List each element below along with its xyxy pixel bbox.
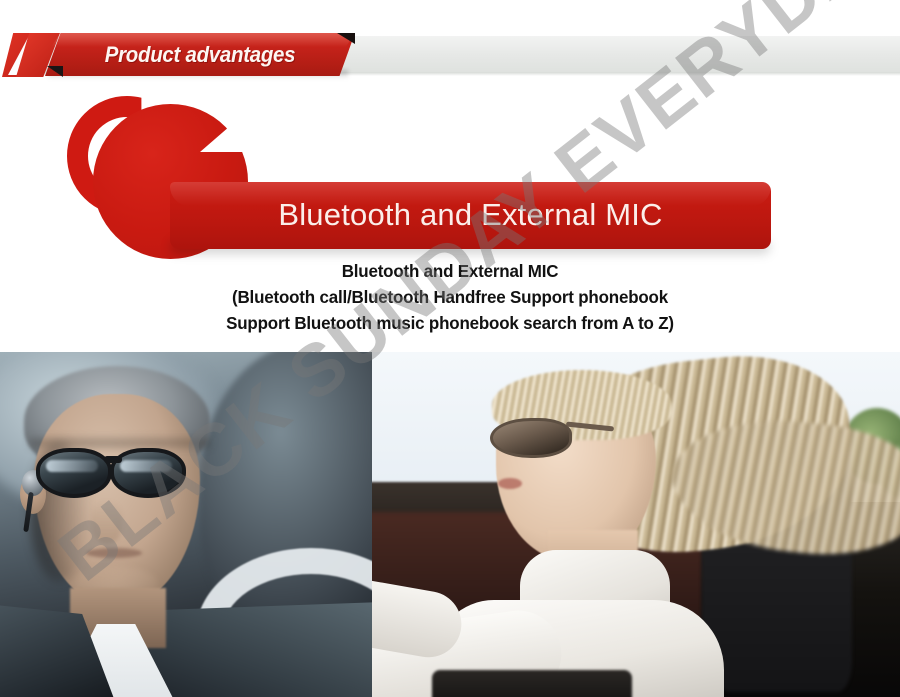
header-ribbon-label: Product advantages xyxy=(56,33,344,76)
description-line: Support Bluetooth music phonebook search… xyxy=(14,310,887,336)
lifestyle-photo: Free Mic I'm on my way now Where are you… xyxy=(0,352,900,697)
description-line: Bluetooth and External MIC xyxy=(14,258,887,284)
womans-sunglasses-icon xyxy=(490,418,606,462)
description-block: Bluetooth and External MIC (Bluetooth ca… xyxy=(0,258,900,336)
product-advantages-page: Product advantages Bluetooth and Externa… xyxy=(0,0,900,697)
woman-in-convertible-photo xyxy=(372,352,900,697)
title-bar-label: Bluetooth and External MIC xyxy=(278,197,662,233)
description-line: (Bluetooth call/Bluetooth Handfree Suppo… xyxy=(14,284,887,310)
header-section: Product advantages Bluetooth and Externa… xyxy=(0,0,900,352)
man-in-car-photo xyxy=(0,352,372,697)
sunglasses-icon xyxy=(36,444,204,502)
title-bar: Bluetooth and External MIC xyxy=(170,182,771,249)
